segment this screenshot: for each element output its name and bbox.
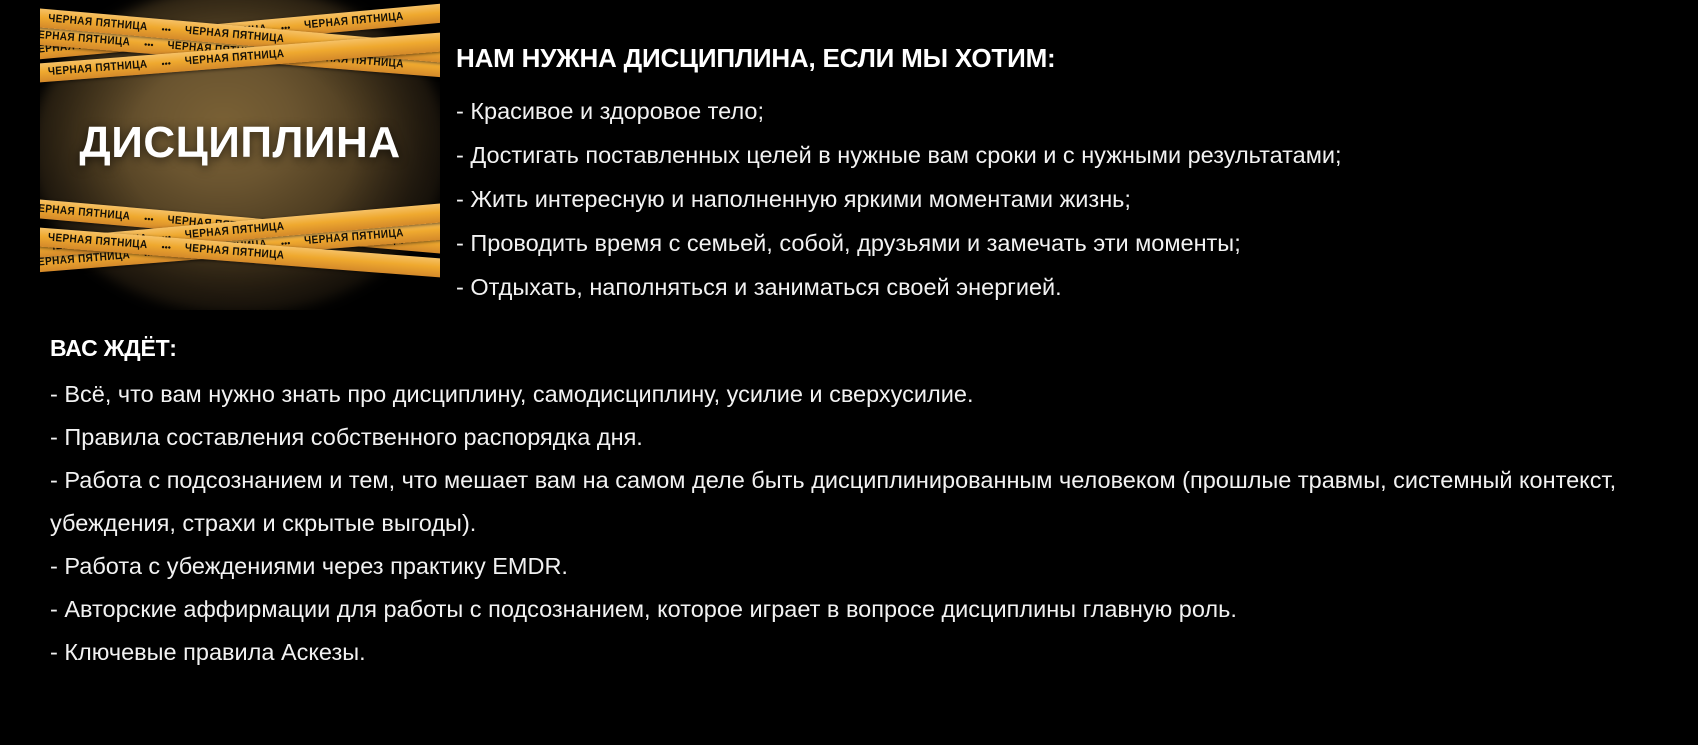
tape-label: ЧЕРНАЯ ПЯТНИЦА xyxy=(294,10,414,33)
needs-discipline-heading: НАМ НУЖНА ДИСЦИПЛИНА, ЕСЛИ МЫ ХОТИМ: xyxy=(456,44,1666,73)
promo-page: ЧЕРНАЯ ПЯТНИЦА ••• ЧЕРНАЯ ПЯТНИЦА ••• ЧЕ… xyxy=(0,0,1698,745)
promo-title: ДИСЦИПЛИНА xyxy=(40,118,440,168)
what-awaits-section: ВАС ЖДЁТ: - Всё, что вам нужно знать про… xyxy=(50,336,1670,674)
list-item: - Достигать поставленных целей в нужные … xyxy=(456,133,1666,177)
tape-label: ЧЕРНАЯ ПЯТНИЦА xyxy=(40,201,141,224)
discipline-promo-graphic: ЧЕРНАЯ ПЯТНИЦА ••• ЧЕРНАЯ ПЯТНИЦА ••• ЧЕ… xyxy=(40,0,440,310)
list-item: - Жить интересную и наполненную яркими м… xyxy=(456,177,1666,221)
needs-discipline-section: НАМ НУЖНА ДИСЦИПЛИНА, ЕСЛИ МЫ ХОТИМ: - К… xyxy=(456,44,1666,309)
tape-label: ЧЕРНАЯ ПЯТНИЦА xyxy=(40,58,158,79)
list-item: - Отдыхать, наполняться и заниматься сво… xyxy=(456,265,1666,309)
list-item: - Всё, что вам нужно знать про дисциплин… xyxy=(50,373,1670,416)
tape-separator: ••• xyxy=(140,38,158,49)
caution-tape-group-top: ЧЕРНАЯ ПЯТНИЦА ••• ЧЕРНАЯ ПЯТНИЦА ••• ЧЕ… xyxy=(40,8,440,80)
list-item: - Авторские аффирмации для работы с подс… xyxy=(50,588,1670,631)
list-item: - Работа с подсознанием и тем, что мешае… xyxy=(50,459,1670,545)
tape-separator: ••• xyxy=(157,23,175,34)
caution-tape-group-bottom: ЧЕРНАЯ ПЯТНИЦА ••• ЧЕРНАЯ ПЯТНИЦА ••• ЧЕ… xyxy=(40,205,440,277)
tape-separator: ••• xyxy=(157,58,175,69)
what-awaits-heading: ВАС ЖДЁТ: xyxy=(50,336,1670,361)
list-item: - Ключевые правила Аскезы. xyxy=(50,631,1670,674)
tape-separator: ••• xyxy=(140,213,158,224)
list-item: - Работа с убеждениями через практику EM… xyxy=(50,545,1670,588)
list-item: - Проводить время с семьей, собой, друзь… xyxy=(456,221,1666,265)
needs-discipline-list: - Красивое и здоровое тело; - Достигать … xyxy=(456,89,1666,309)
tape-separator: ••• xyxy=(157,241,175,252)
what-awaits-list: - Всё, что вам нужно знать про дисциплин… xyxy=(50,373,1670,674)
list-item: - Красивое и здоровое тело; xyxy=(456,89,1666,133)
list-item: - Правила составления собственного распо… xyxy=(50,416,1670,459)
